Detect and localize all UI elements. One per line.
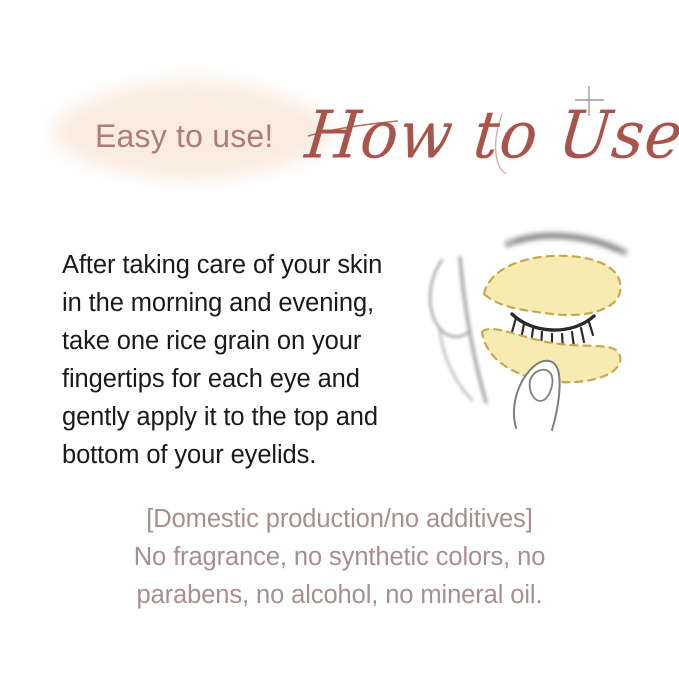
promo-card: Easy to use! How to Use After taking car… (0, 0, 679, 679)
upper-eyelid-patch (484, 256, 621, 315)
header-eyebrow-label: Easy to use! (95, 118, 274, 155)
instructions-line: gently apply it to the top and (62, 398, 434, 436)
cross-sparkle-icon (572, 84, 606, 118)
instructions-line: take one rice grain on your (62, 322, 434, 360)
instructions-line: bottom of your eyelids. (62, 436, 434, 474)
claim-line: [Domestic production/no additives] (0, 500, 679, 538)
instructions-line: After taking care of your skin (62, 246, 434, 284)
claim-line: parabens, no alcohol, no mineral oil. (0, 576, 679, 614)
instructions-paragraph: After taking care of your skin in the mo… (62, 246, 434, 474)
header-script-title: How to Use (302, 96, 679, 173)
header-band: Easy to use! How to Use (0, 78, 679, 188)
eyebrow-shape (508, 236, 624, 252)
header-script-title-wrap: How to Use (306, 84, 616, 188)
instructions-line: fingertips for each eye and (62, 360, 434, 398)
claim-line: No fragrance, no synthetic colors, no (0, 538, 679, 576)
eye-application-illustration (420, 222, 656, 460)
instructions-line: in the morning and evening, (62, 284, 434, 322)
nose-profile-shape (430, 258, 486, 402)
product-claims-block: [Domestic production/no additives] No fr… (0, 500, 679, 614)
